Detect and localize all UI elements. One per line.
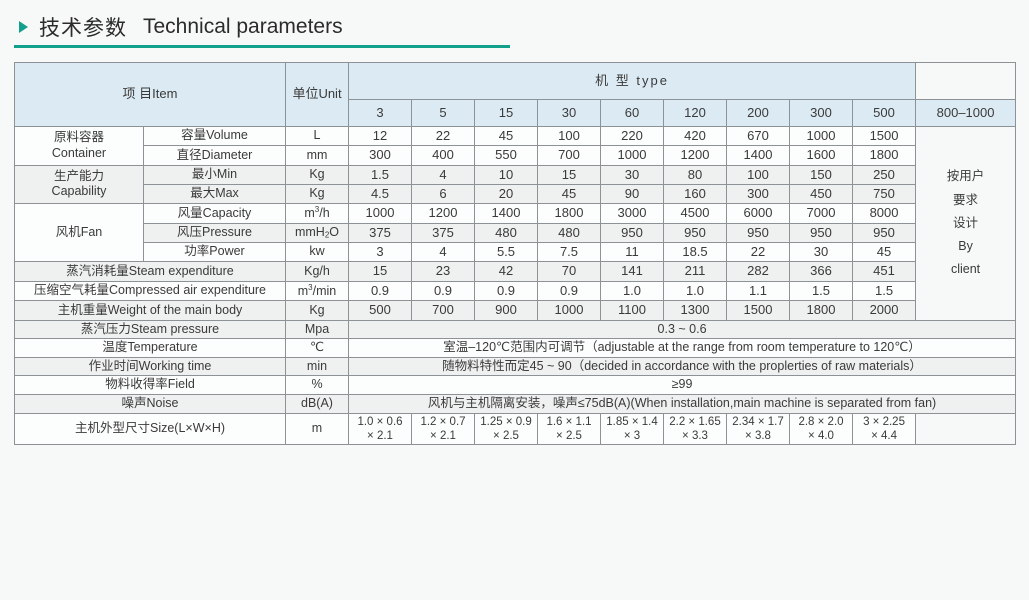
- cell-value: 8000: [853, 204, 916, 224]
- cell-value: 20: [475, 184, 538, 203]
- cell-value: 4.5: [349, 184, 412, 203]
- cell-value: 0.9: [538, 281, 601, 301]
- row-unit: ℃: [286, 339, 349, 358]
- cell-value: 1800: [853, 146, 916, 165]
- table-row: 生产能力Capability最小MinKg1.54101530801001502…: [15, 165, 1016, 184]
- cell-size-value: 1.6 × 1.1× 2.5: [538, 413, 601, 445]
- table-header-row-1: 项 目Item单位Unit机 型 type: [15, 63, 1016, 100]
- cell-value: 1.5: [349, 165, 412, 184]
- cell-value: 750: [853, 184, 916, 203]
- row-unit: Kg: [286, 184, 349, 203]
- cell-size-value: 1.25 × 0.9× 2.5: [475, 413, 538, 445]
- cell-value: 451: [853, 262, 916, 281]
- cell-value: 3: [349, 243, 412, 262]
- size-line-1: 2.8 × 2.0: [792, 415, 850, 429]
- page-title-cn: 技术参数: [39, 12, 127, 42]
- cell-value: 4500: [664, 204, 727, 224]
- row-label: 主机外型尺寸Size(L×W×H): [15, 413, 286, 445]
- row-unit: m3/min: [286, 281, 349, 301]
- section-title: 技术参数 Technical parameters: [14, 8, 510, 48]
- row-label: 蒸汽压力Steam pressure: [15, 320, 286, 339]
- merged-value: 室温–120℃范围内可调节（adjustable at the range fr…: [349, 339, 1016, 358]
- row-unit: kw: [286, 243, 349, 262]
- size-free-blank: [916, 413, 1016, 445]
- table-row: 风机Fan风量Capacitym3/h100012001400180030004…: [15, 204, 1016, 224]
- page-title-en: Technical parameters: [143, 15, 343, 39]
- header-item: 项 目Item: [15, 63, 286, 127]
- cell-value: 90: [601, 184, 664, 203]
- header-model-5: 5: [412, 100, 475, 127]
- header-model-500: 500: [853, 100, 916, 127]
- cell-value: 12: [349, 127, 412, 146]
- row-label: 最小Min: [144, 165, 286, 184]
- cell-value: 4: [412, 243, 475, 262]
- cell-value: 480: [475, 223, 538, 242]
- cell-value: 1000: [790, 127, 853, 146]
- header-model-3: 3: [349, 100, 412, 127]
- size-line-1: 2.2 × 1.65: [666, 415, 724, 429]
- cell-value: 420: [664, 127, 727, 146]
- cell-value: 900: [475, 301, 538, 320]
- row-unit: dB(A): [286, 395, 349, 414]
- cell-value: 500: [349, 301, 412, 320]
- size-line-2: × 4.4: [855, 429, 913, 443]
- cell-value: 300: [727, 184, 790, 203]
- cell-value: 5.5: [475, 243, 538, 262]
- row-unit: m: [286, 413, 349, 445]
- cell-value: 7000: [790, 204, 853, 224]
- cell-value: 250: [853, 165, 916, 184]
- size-line-2: × 3.8: [729, 429, 787, 443]
- cell-value: 950: [790, 223, 853, 242]
- header-model-15: 15: [475, 100, 538, 127]
- cell-value: 1500: [727, 301, 790, 320]
- table-row: 风压PressuremmH2O3753754804809509509509509…: [15, 223, 1016, 242]
- group-label-cn: 原料容器: [17, 130, 141, 146]
- cell-value: 30: [601, 165, 664, 184]
- size-line-1: 1.2 × 0.7: [414, 415, 472, 429]
- cell-value: 18.5: [664, 243, 727, 262]
- header-free-blank: [916, 63, 1016, 100]
- row-unit: Kg: [286, 165, 349, 184]
- cell-value: 700: [412, 301, 475, 320]
- row-unit: %: [286, 376, 349, 395]
- cell-value: 950: [601, 223, 664, 242]
- size-line-1: 2.34 × 1.7: [729, 415, 787, 429]
- row-label: 直径Diameter: [144, 146, 286, 165]
- size-line-2: × 2.5: [477, 429, 535, 443]
- cell-value: 1000: [349, 204, 412, 224]
- header-model-300: 300: [790, 100, 853, 127]
- cell-value: 6000: [727, 204, 790, 224]
- merged-value: 随物料特性而定45 ~ 90（decided in accordance wit…: [349, 357, 1016, 376]
- cell-value: 4: [412, 165, 475, 184]
- cell-value: 10: [475, 165, 538, 184]
- cell-size-value: 2.8 × 2.0× 4.0: [790, 413, 853, 445]
- custom-design-note: 按用户要求设计Byclient: [916, 127, 1016, 321]
- header-model-60: 60: [601, 100, 664, 127]
- cell-value: 400: [412, 146, 475, 165]
- cell-value: 0.9: [412, 281, 475, 301]
- cell-size-value: 2.34 × 1.7× 3.8: [727, 413, 790, 445]
- table-row: 直径Diametermm3004005507001000120014001600…: [15, 146, 1016, 165]
- cell-value: 1.0: [664, 281, 727, 301]
- table-row: 最大MaxKg4.56204590160300450750: [15, 184, 1016, 203]
- cell-value: 1200: [412, 204, 475, 224]
- size-line-2: × 2.1: [414, 429, 472, 443]
- cell-value: 1500: [853, 127, 916, 146]
- size-line-1: 1.85 × 1.4: [603, 415, 661, 429]
- cell-value: 1.0: [601, 281, 664, 301]
- cell-value: 950: [727, 223, 790, 242]
- cell-value: 1.5: [790, 281, 853, 301]
- size-line-2: × 2.5: [540, 429, 598, 443]
- cell-value: 7.5: [538, 243, 601, 262]
- cell-value: 23: [412, 262, 475, 281]
- cell-value: 141: [601, 262, 664, 281]
- cell-value: 22: [727, 243, 790, 262]
- size-line-1: 3 × 2.25: [855, 415, 913, 429]
- cell-value: 1600: [790, 146, 853, 165]
- row-unit: mmH2O: [286, 223, 349, 242]
- cell-value: 0.9: [475, 281, 538, 301]
- cell-value: 160: [664, 184, 727, 203]
- cell-value: 1000: [538, 301, 601, 320]
- group-label: 原料容器Container: [15, 127, 144, 166]
- table-row: 作业时间Working timemin随物料特性而定45 ~ 90（decide…: [15, 357, 1016, 376]
- group-label-en: Container: [17, 146, 141, 162]
- cell-value: 1400: [475, 204, 538, 224]
- merged-value: 0.3 ~ 0.6: [349, 320, 1016, 339]
- cell-value: 700: [538, 146, 601, 165]
- cell-value: 1.1: [727, 281, 790, 301]
- cell-value: 1000: [601, 146, 664, 165]
- cell-value: 950: [853, 223, 916, 242]
- cell-value: 100: [538, 127, 601, 146]
- cell-size-value: 1.0 × 0.6× 2.1: [349, 413, 412, 445]
- row-unit: L: [286, 127, 349, 146]
- table-row: 物料收得率Field%≥99: [15, 376, 1016, 395]
- custom-note-line: client: [918, 258, 1013, 281]
- size-line-2: × 3: [603, 429, 661, 443]
- group-label: 风机Fan: [15, 204, 144, 262]
- cell-size-value: 2.2 × 1.65× 3.3: [664, 413, 727, 445]
- row-unit: m3/h: [286, 204, 349, 224]
- header-model-200: 200: [727, 100, 790, 127]
- group-label: 生产能力Capability: [15, 165, 144, 204]
- cell-value: 1100: [601, 301, 664, 320]
- cell-value: 6: [412, 184, 475, 203]
- cell-value: 1800: [790, 301, 853, 320]
- cell-value: 1.5: [853, 281, 916, 301]
- cell-size-value: 3 × 2.25× 4.4: [853, 413, 916, 445]
- cell-value: 220: [601, 127, 664, 146]
- size-line-2: × 3.3: [666, 429, 724, 443]
- cell-value: 15: [349, 262, 412, 281]
- merged-value: 风机与主机隔离安装，噪声≤75dB(A)(When installation,m…: [349, 395, 1016, 414]
- cell-value: 1800: [538, 204, 601, 224]
- cell-value: 80: [664, 165, 727, 184]
- row-label: 容量Volume: [144, 127, 286, 146]
- cell-value: 15: [538, 165, 601, 184]
- row-unit: Kg/h: [286, 262, 349, 281]
- triangle-bullet-icon: [19, 21, 28, 33]
- table-row: 温度Temperature℃室温–120℃范围内可调节（adjustable a…: [15, 339, 1016, 358]
- header-model-extra: 800–1000: [916, 100, 1016, 127]
- table-row: 噪声NoisedB(A)风机与主机隔离安装，噪声≤75dB(A)(When in…: [15, 395, 1016, 414]
- cell-value: 0.9: [349, 281, 412, 301]
- cell-value: 366: [790, 262, 853, 281]
- cell-value: 375: [412, 223, 475, 242]
- size-line-2: × 2.1: [351, 429, 409, 443]
- cell-value: 950: [664, 223, 727, 242]
- cell-value: 70: [538, 262, 601, 281]
- row-label: 主机重量Weight of the main body: [15, 301, 286, 320]
- row-label: 噪声Noise: [15, 395, 286, 414]
- row-label: 蒸汽消耗量Steam expenditure: [15, 262, 286, 281]
- page-root: 技术参数 Technical parameters 项 目Item单位Unit机…: [0, 0, 1029, 600]
- group-label-en: Capability: [17, 184, 141, 200]
- row-label: 温度Temperature: [15, 339, 286, 358]
- header-model-30: 30: [538, 100, 601, 127]
- size-line-1: 1.0 × 0.6: [351, 415, 409, 429]
- cell-value: 670: [727, 127, 790, 146]
- size-line-2: × 4.0: [792, 429, 850, 443]
- row-label: 风量Capacity: [144, 204, 286, 224]
- cell-value: 2000: [853, 301, 916, 320]
- cell-value: 45: [475, 127, 538, 146]
- cell-size-value: 1.2 × 0.7× 2.1: [412, 413, 475, 445]
- row-label: 功率Power: [144, 243, 286, 262]
- cell-value: 1400: [727, 146, 790, 165]
- cell-value: 480: [538, 223, 601, 242]
- cell-value: 450: [790, 184, 853, 203]
- size-line-1: 1.25 × 0.9: [477, 415, 535, 429]
- cell-value: 211: [664, 262, 727, 281]
- table-row: 主机重量Weight of the main bodyKg50070090010…: [15, 301, 1016, 320]
- cell-value: 30: [790, 243, 853, 262]
- row-label: 最大Max: [144, 184, 286, 203]
- cell-value: 45: [538, 184, 601, 203]
- row-label: 风压Pressure: [144, 223, 286, 242]
- row-label: 物料收得率Field: [15, 376, 286, 395]
- custom-note-line: 按用户: [918, 165, 1013, 188]
- cell-value: 1300: [664, 301, 727, 320]
- spec-table-wrapper: 项 目Item单位Unit机 型 type3515306012020030050…: [14, 62, 1015, 445]
- cell-value: 3000: [601, 204, 664, 224]
- cell-value: 45: [853, 243, 916, 262]
- custom-note-line: 设计: [918, 212, 1013, 235]
- group-label-cn: 生产能力: [17, 169, 141, 185]
- header-unit: 单位Unit: [286, 63, 349, 127]
- cell-value: 375: [349, 223, 412, 242]
- row-unit: Kg: [286, 301, 349, 320]
- table-row: 功率Powerkw345.57.51118.5223045: [15, 243, 1016, 262]
- cell-value: 150: [790, 165, 853, 184]
- header-type: 机 型 type: [349, 63, 916, 100]
- table-row: 原料容器Container容量VolumeL122245100220420670…: [15, 127, 1016, 146]
- row-label: 作业时间Working time: [15, 357, 286, 376]
- size-line-1: 1.6 × 1.1: [540, 415, 598, 429]
- table-row: 蒸汽消耗量Steam expenditureKg/h15234270141211…: [15, 262, 1016, 281]
- custom-note-line: 要求: [918, 189, 1013, 212]
- cell-value: 22: [412, 127, 475, 146]
- row-unit: Mpa: [286, 320, 349, 339]
- table-row-size: 主机外型尺寸Size(L×W×H)m1.0 × 0.6× 2.11.2 × 0.…: [15, 413, 1016, 445]
- table-row: 蒸汽压力Steam pressureMpa0.3 ~ 0.6: [15, 320, 1016, 339]
- cell-size-value: 1.85 × 1.4× 3: [601, 413, 664, 445]
- merged-value: ≥99: [349, 376, 1016, 395]
- row-label: 压缩空气耗量Compressed air expenditure: [15, 281, 286, 301]
- cell-value: 100: [727, 165, 790, 184]
- cell-value: 11: [601, 243, 664, 262]
- cell-value: 550: [475, 146, 538, 165]
- header-model-120: 120: [664, 100, 727, 127]
- technical-parameters-table: 项 目Item单位Unit机 型 type3515306012020030050…: [14, 62, 1016, 445]
- cell-value: 300: [349, 146, 412, 165]
- cell-value: 1200: [664, 146, 727, 165]
- row-unit: mm: [286, 146, 349, 165]
- custom-note-line: By: [918, 235, 1013, 258]
- row-unit: min: [286, 357, 349, 376]
- cell-value: 282: [727, 262, 790, 281]
- cell-value: 42: [475, 262, 538, 281]
- table-row: 压缩空气耗量Compressed air expenditurem3/min0.…: [15, 281, 1016, 301]
